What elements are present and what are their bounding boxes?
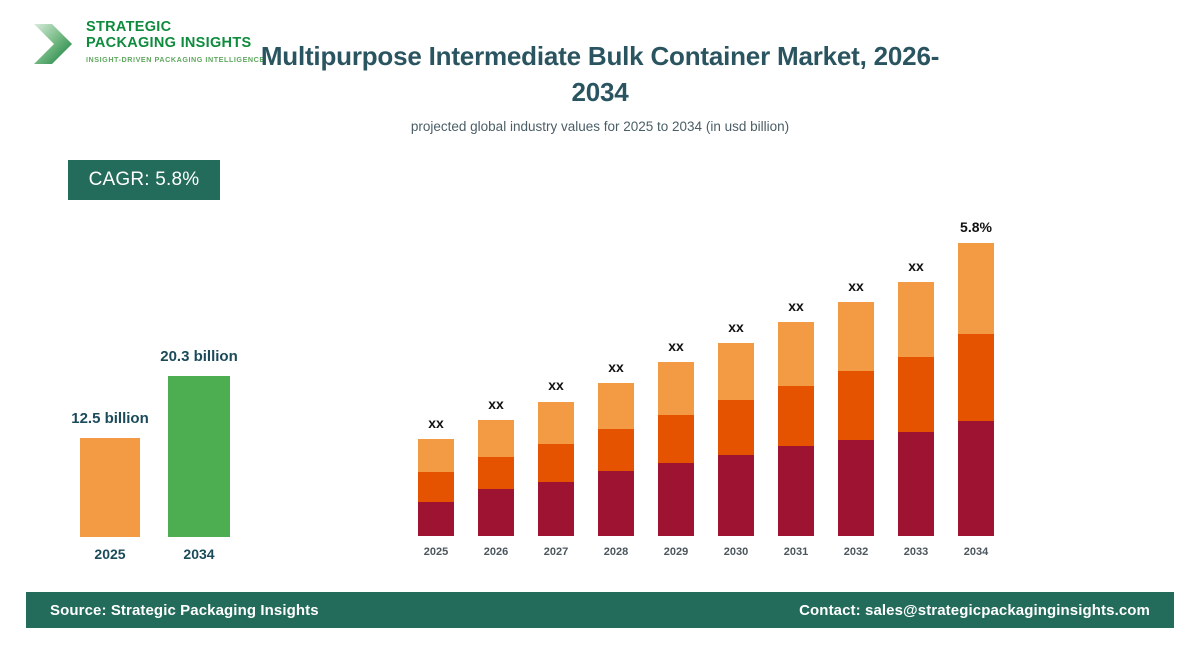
bar-segment-segment-1 xyxy=(718,455,754,536)
bar-segment-segment-3 xyxy=(958,243,994,334)
bar-value-label: 20.3 billion xyxy=(99,348,299,365)
axis-label-2030: 2030 xyxy=(706,546,766,558)
bar-segment-segment-1 xyxy=(778,446,814,536)
page-subtitle: projected global industry values for 202… xyxy=(250,119,950,134)
bar-segment-segment-3 xyxy=(538,402,574,445)
bar-segment-segment-1 xyxy=(838,440,874,536)
page-title: Multipurpose Intermediate Bulk Container… xyxy=(250,38,950,110)
axis-label-2032: 2032 xyxy=(826,546,886,558)
bar-top-label-2026: xx xyxy=(456,396,536,412)
bar-segment-segment-1 xyxy=(958,421,994,536)
bar-2025[interactable] xyxy=(80,438,140,537)
axis-label-2027: 2027 xyxy=(526,546,586,558)
bar-segment-segment-3 xyxy=(718,343,754,400)
footer-contact: Contact: sales@strategicpackaginginsight… xyxy=(799,602,1150,619)
bar-top-label-2028: xx xyxy=(576,359,656,375)
bar-segment-segment-2 xyxy=(778,386,814,446)
stacked-bar-2027[interactable] xyxy=(538,402,574,537)
stacked-bar-2025[interactable] xyxy=(418,439,454,536)
bar-top-label-2027: xx xyxy=(516,377,596,393)
bar-segment-segment-1 xyxy=(538,482,574,536)
bar-top-label-2034: 5.8% xyxy=(936,219,1016,235)
bar-top-label-2031: xx xyxy=(756,298,836,314)
footer-source: Source: Strategic Packaging Insights xyxy=(50,602,319,619)
footer-bar: Source: Strategic Packaging Insights Con… xyxy=(26,592,1174,628)
bar-segment-segment-3 xyxy=(598,383,634,429)
axis-label-2033: 2033 xyxy=(886,546,946,558)
stacked-bar-2028[interactable] xyxy=(598,383,634,536)
bar-segment-segment-1 xyxy=(898,432,934,536)
yearly-stacked-forecast-chart: xx2025xx2026xx2027xx2028xx2029xx2030xx20… xyxy=(405,190,1015,560)
axis-label-2031: 2031 xyxy=(766,546,826,558)
bar-top-label-2032: xx xyxy=(816,278,896,294)
bar-segment-segment-3 xyxy=(478,420,514,456)
stacked-bar-2029[interactable] xyxy=(658,362,694,536)
bar-top-label-2029: xx xyxy=(636,338,716,354)
stacked-bar-2032[interactable] xyxy=(838,302,874,536)
axis-label-2034: 2034 xyxy=(946,546,1006,558)
bar-segment-segment-2 xyxy=(958,334,994,422)
bar-segment-segment-3 xyxy=(898,282,934,357)
bar-2034[interactable] xyxy=(168,376,230,537)
stacked-bar-2026[interactable] xyxy=(478,420,514,536)
bar-segment-segment-1 xyxy=(658,463,694,536)
stacked-bar-2033[interactable] xyxy=(898,282,934,536)
bar-segment-segment-2 xyxy=(898,357,934,432)
bar-segment-segment-3 xyxy=(418,439,454,472)
axis-label-2026: 2026 xyxy=(466,546,526,558)
bar-top-label-2030: xx xyxy=(696,319,776,335)
bar-segment-segment-3 xyxy=(658,362,694,415)
axis-label-2034: 2034 xyxy=(139,546,259,562)
axis-label-2025: 2025 xyxy=(406,546,466,558)
bar-segment-segment-1 xyxy=(418,502,454,536)
axis-label-2029: 2029 xyxy=(646,546,706,558)
stacked-bar-2031[interactable] xyxy=(778,322,814,536)
axis-label-2028: 2028 xyxy=(586,546,646,558)
bar-top-label-2025: xx xyxy=(396,415,476,431)
stacked-bar-2030[interactable] xyxy=(718,343,754,536)
bar-segment-segment-1 xyxy=(598,471,634,536)
bar-segment-segment-2 xyxy=(838,371,874,440)
bar-segment-segment-2 xyxy=(598,429,634,472)
bar-segment-segment-3 xyxy=(778,322,814,386)
bar-segment-segment-2 xyxy=(538,444,574,482)
bar-segment-segment-2 xyxy=(478,457,514,489)
stacked-bar-2034[interactable] xyxy=(958,243,994,536)
bar-top-label-2033: xx xyxy=(876,258,956,274)
bar-segment-segment-1 xyxy=(478,489,514,536)
bar-segment-segment-2 xyxy=(718,400,754,454)
bar-segment-segment-3 xyxy=(838,302,874,371)
header-block: Multipurpose Intermediate Bulk Container… xyxy=(250,38,950,134)
endpoint-comparison-chart: 12.5 billion 20.3 billion 2025 2034 xyxy=(0,0,320,600)
bar-segment-segment-2 xyxy=(418,472,454,501)
bar-segment-segment-2 xyxy=(658,415,694,463)
